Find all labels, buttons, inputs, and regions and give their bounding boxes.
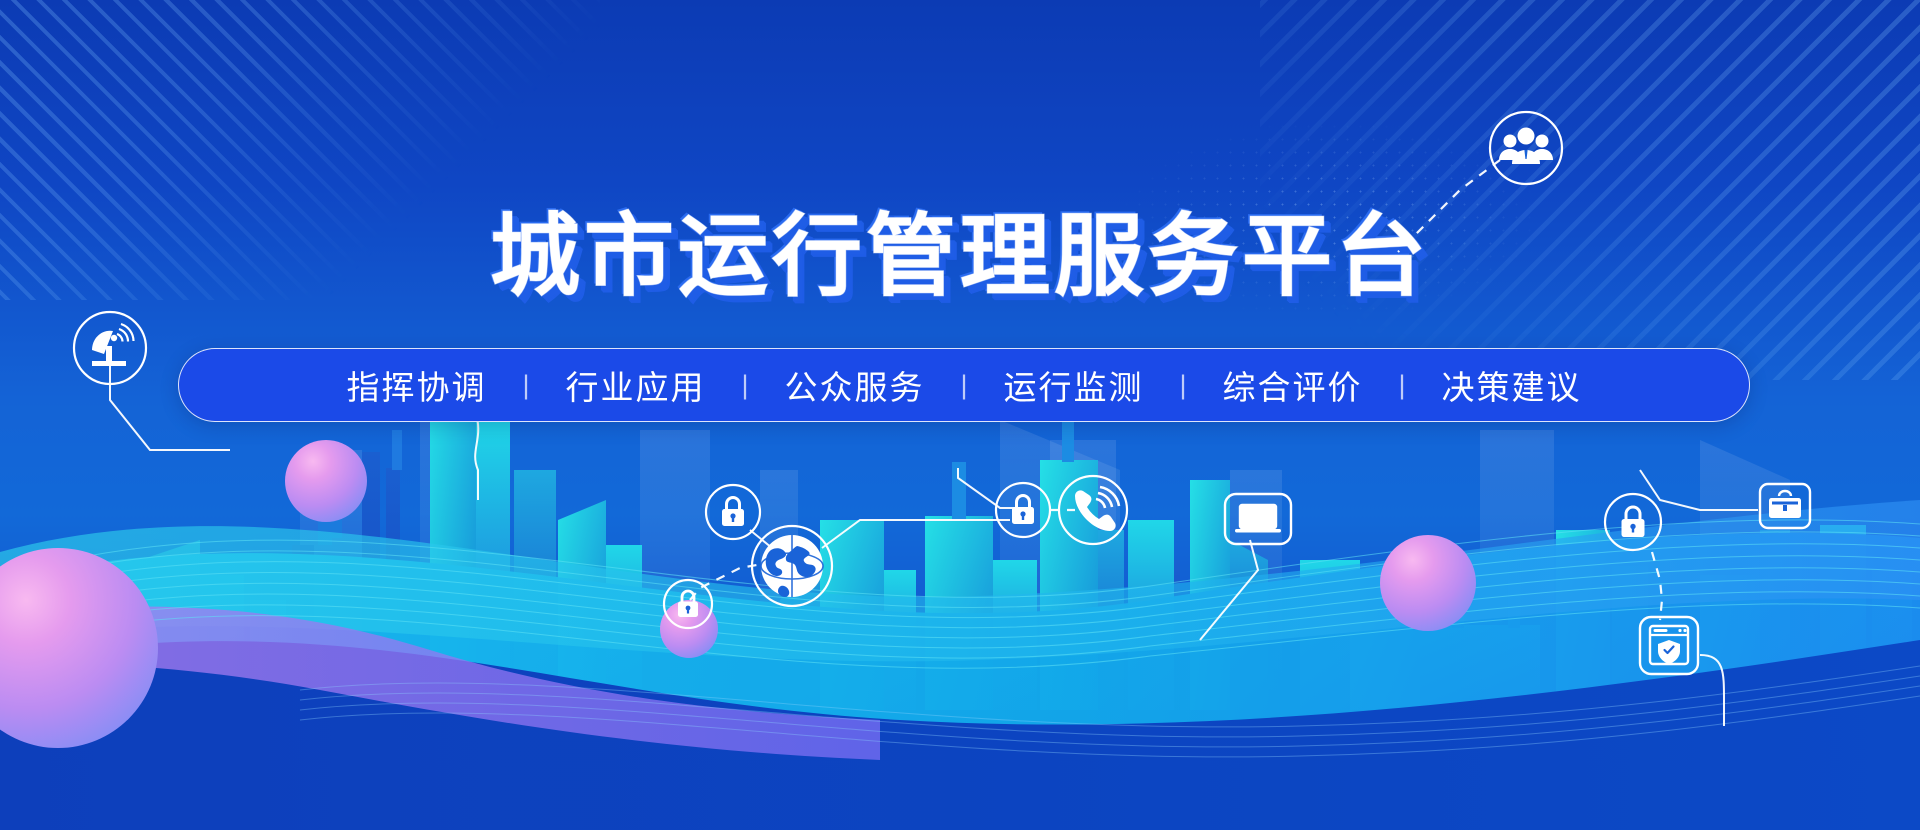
briefcase-icon [1760,484,1810,528]
hero-banner: @ [0,0,1920,830]
main-nav-bar[interactable]: 指挥协调 | 行业应用 | 公众服务 | 运行监测 | 综合评价 | 决策建议 [178,348,1750,422]
satellite-dish-icon [74,312,146,384]
laptop-cursor-icon [1225,494,1291,544]
lock-icon [1605,494,1661,550]
phone-signal-icon [1059,476,1127,544]
nav-item-decision-suggestion[interactable]: 决策建议 [1410,361,1614,409]
nav-item-operation-monitoring[interactable]: 运行监测 [972,361,1176,409]
browser-shield-icon [1640,617,1698,674]
nav-item-command-coordination[interactable]: 指挥协调 [314,361,518,409]
nav-separator: | [956,370,971,401]
lock-icon [706,485,760,539]
people-group-icon [1490,112,1562,184]
nav-separator: | [1395,370,1410,401]
nav-separator: | [737,370,752,401]
nav-separator: | [518,370,533,401]
lock-icon [664,580,712,628]
nav-item-industry-application[interactable]: 行业应用 [533,361,737,409]
nav-item-public-service[interactable]: 公众服务 [752,361,956,409]
nav-separator: | [1176,370,1191,401]
lock-icon [996,483,1050,537]
nav-item-comprehensive-evaluation[interactable]: 综合评价 [1191,361,1395,409]
globe-icon [752,526,832,606]
